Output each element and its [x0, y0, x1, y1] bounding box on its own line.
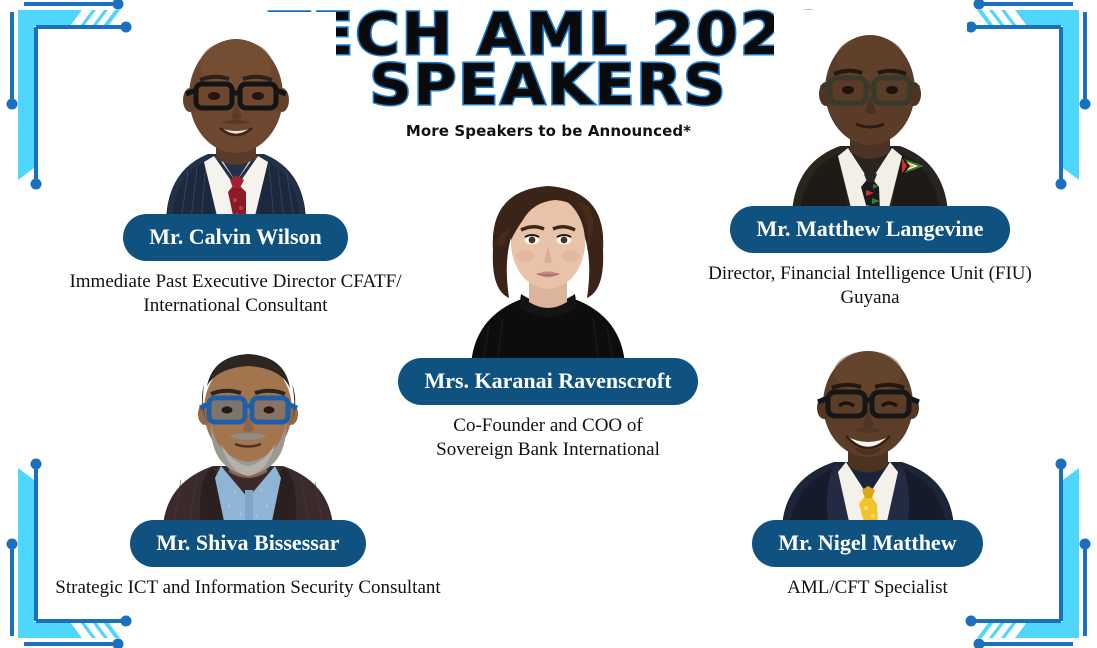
- speaker-name-badge: Mrs. Karanai Ravenscroft: [398, 358, 697, 405]
- portrait-nigel-matthew: [768, 336, 968, 526]
- portrait-karanai-ravenscroft: [463, 166, 633, 364]
- portrait-calvin-wilson: [136, 12, 336, 220]
- speaker-card-calvin-wilson: Mr. Calvin Wilson Immediate Past Executi…: [38, 12, 433, 319]
- speaker-name-badge: Mr. Shiva Bissessar: [130, 520, 365, 567]
- speaker-role: Immediate Past Executive Director CFATF/…: [38, 270, 433, 319]
- speaker-card-nigel-matthew: Mr. Nigel Matthew AML/CFT Specialist: [665, 336, 1070, 600]
- speaker-role: AML/CFT Specialist: [665, 576, 1070, 600]
- speaker-role: Strategic ICT and Information Security C…: [28, 576, 468, 600]
- portrait-matthew-langevine: [774, 10, 967, 212]
- speaker-name-badge: Mr. Matthew Langevine: [730, 206, 1009, 253]
- portrait-shiva-bissessar: [151, 340, 346, 526]
- speaker-card-matthew-langevine: Mr. Matthew Langevine Director, Financia…: [665, 10, 1075, 311]
- speaker-name-badge: Mr. Calvin Wilson: [123, 214, 348, 261]
- speaker-name-badge: Mr. Nigel Matthew: [752, 520, 982, 567]
- speaker-role: Director, Financial Intelligence Unit (F…: [665, 262, 1075, 311]
